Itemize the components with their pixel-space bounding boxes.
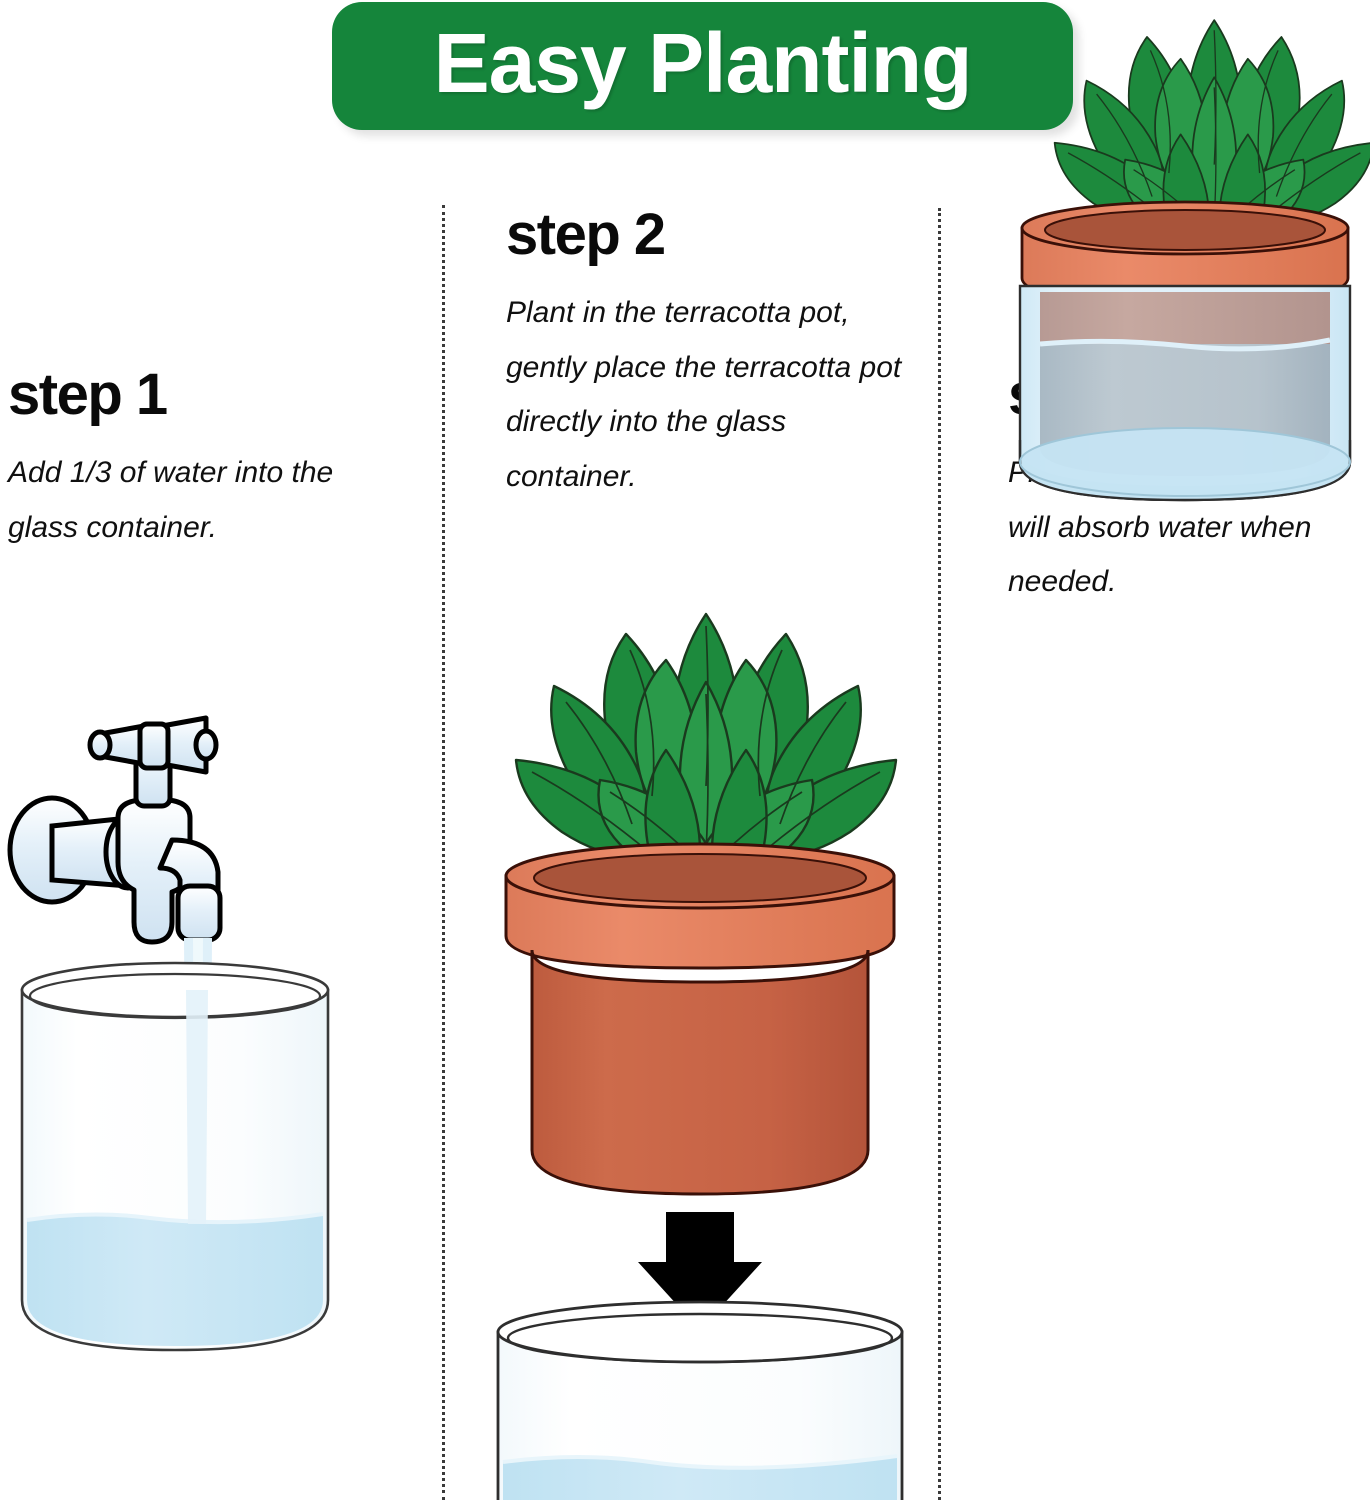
column-divider-2 xyxy=(938,208,941,1500)
step-1-text-block: step 1 Add 1/3 of water into the glass c… xyxy=(8,366,403,555)
step-2-text-block: step 2 Plant in the terracotta pot, gent… xyxy=(506,206,918,504)
faucet-icon xyxy=(10,718,220,942)
glass-container-icon xyxy=(22,963,328,1350)
glass-container-icon xyxy=(1020,286,1350,500)
step-1-illustration xyxy=(0,690,400,1390)
step-2-body: Plant in the terracotta pot, gently plac… xyxy=(506,286,918,504)
infographic-canvas: Easy Planting step 1 Add 1/3 of water in… xyxy=(0,0,1370,1500)
step-1-heading: step 1 xyxy=(8,366,403,424)
glass-container-icon xyxy=(498,1302,902,1500)
step-2-heading: step 2 xyxy=(506,206,918,264)
header-banner: Easy Planting xyxy=(332,2,1073,130)
step-2-illustration xyxy=(470,590,930,1500)
terracotta-pot-icon xyxy=(506,844,894,1194)
step-1-body: Add 1/3 of water into the glass containe… xyxy=(8,446,403,555)
step-3-illustration xyxy=(1000,0,1370,535)
column-divider-1 xyxy=(442,205,445,1500)
page-title: Easy Planting xyxy=(434,21,972,105)
